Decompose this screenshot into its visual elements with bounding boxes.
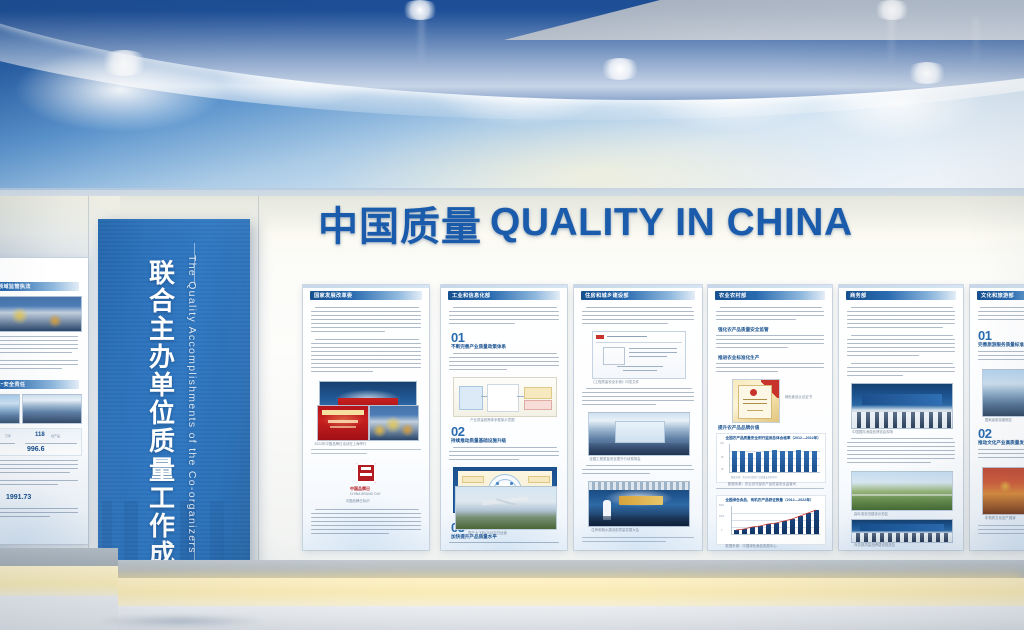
stage-truss	[589, 482, 689, 490]
photo-shade	[456, 487, 556, 529]
poster-header-label: 商务部	[846, 292, 866, 299]
chart-agri-brand-value: 全国绿色食品、有机农产品获证数量（2012—2022年）	[716, 495, 826, 545]
stat-caption-line	[0, 443, 15, 444]
china-brand-day-seal-icon	[356, 463, 376, 483]
event-backdrop	[862, 394, 942, 405]
chart-ytick: 8000	[719, 505, 724, 507]
inspection-workers-photo	[0, 296, 82, 332]
outdoor-forum-stage-photo	[588, 481, 690, 527]
page-title: 中国质量 QUALITY IN CHINA	[318, 192, 878, 254]
banner-headline	[322, 410, 364, 415]
poster-header-label: 国家发展改革委	[310, 292, 352, 299]
poster-top-accent	[970, 285, 1024, 288]
poster-header-label: 工业和信息化部	[448, 292, 490, 299]
chart-plot-area	[731, 506, 820, 535]
poster-header-bar: 深入开展民生领域监管执法	[0, 282, 79, 291]
poster-mofcom[interactable]: 商务部 中国国际消费品博览会现场 高标准农田建设	[839, 285, 963, 550]
photo-shade	[370, 406, 418, 440]
award-ceremony-photo	[851, 519, 953, 543]
farmland-aerial-photo	[851, 471, 953, 511]
section-title: 提升农产品品牌价值	[718, 425, 759, 431]
chart-ytick: 0	[721, 530, 722, 532]
section-number: 02	[978, 427, 991, 440]
certificate-line	[743, 399, 767, 400]
document-figure	[603, 347, 625, 365]
stat-unit: 批产品	[51, 434, 60, 438]
chart-bar	[732, 451, 737, 472]
brand-day-crowd-photo	[369, 405, 419, 441]
document-rule	[596, 342, 682, 343]
poster-header-label: 深入开展民生领域监管执法	[0, 283, 31, 290]
chart-title: 全国农产品质量安全例行监测总体合格率（2012—2022年）	[726, 436, 821, 441]
document-text-line	[617, 366, 663, 367]
diagram-node	[524, 387, 552, 399]
chart-bar	[788, 451, 793, 472]
poster-header-label: 农业农村部	[715, 292, 746, 299]
factory-line-photo	[0, 394, 20, 424]
policy-framework-diagram	[453, 377, 557, 417]
photo-caption: 非物质文化遗产展演	[985, 516, 1016, 521]
section-title: 推动文化产业高质量发展	[978, 440, 1024, 446]
banner-floor-shadow	[96, 615, 266, 627]
stat-caption-line	[25, 443, 77, 444]
chart-bar	[748, 453, 753, 472]
poster-header-bar: 工业和信息化部	[448, 291, 560, 300]
forum-audience	[589, 516, 689, 526]
diagram-node	[487, 384, 519, 412]
certificate-line	[743, 403, 767, 404]
certificate-inner	[738, 385, 772, 419]
photo-caption: 2022年中国品牌日活动在上海举行	[314, 442, 366, 447]
chart-source-note: 数据来源：农业农村部农产品质量安全监管司	[728, 482, 796, 487]
event-backdrop	[860, 524, 944, 531]
wall-seam	[258, 196, 259, 566]
section-title: 完善旅游服务质量标准	[978, 342, 1024, 348]
poster-miit-lower[interactable]: 国产大飞机C919交付运营	[441, 468, 567, 550]
section-title: 持续推动质量基础设施升级	[451, 438, 506, 444]
chart-note: 数据来源：农业农村部农产品质量安全监管司	[731, 475, 777, 479]
chart-ytick: 4000	[719, 516, 724, 518]
chart-ytick: 95	[721, 457, 724, 459]
photo-shade	[0, 297, 81, 331]
photo-caption: 中国品牌日标识	[346, 499, 370, 504]
photo-caption: 商务部质量品牌建设推进会	[854, 543, 895, 548]
section-number: 01	[978, 329, 991, 342]
chart-agri-safety-rate: 全国农产品质量安全例行监测总体合格率（2012—2022年） 100 95 90	[716, 433, 826, 483]
section-title: 强化农产品质量安全监管	[718, 327, 769, 333]
document-title-line	[607, 336, 647, 337]
section-number: 01	[451, 331, 464, 344]
poster-header-label: 住房和城乡建设部	[581, 292, 629, 299]
group-attendees	[852, 533, 952, 542]
green-food-certificate	[732, 379, 780, 423]
diagram-node	[524, 400, 552, 410]
stat-value: 1991.73	[6, 494, 31, 501]
poster-header-label: 文化和旅游部	[977, 292, 1014, 299]
wall-seam	[88, 196, 89, 556]
poster-top-accent	[303, 285, 429, 288]
photo-caption: 中国国际消费品博览会现场	[852, 430, 893, 435]
document-text-line	[629, 348, 677, 349]
national-emblem-icon	[750, 389, 757, 396]
photo-caption: 全国工程质量安全提升行动现场会	[589, 457, 640, 462]
light-beam	[975, 18, 977, 73]
stage-banner	[619, 496, 663, 505]
chart-title: 全国绿色食品、有机农产品获证数量（2012—2022年）	[725, 498, 813, 503]
aircraft-takeoff-photo	[455, 486, 557, 530]
poster-header-label: 落实"三品一标"安全责任	[0, 381, 25, 388]
diagram-connector	[481, 396, 487, 397]
light-beam	[420, 12, 423, 72]
spotlight-icon	[905, 62, 949, 84]
diagram-connector	[517, 396, 524, 397]
document-logo	[596, 335, 604, 339]
chart-bar	[780, 451, 785, 472]
poster-top-accent	[441, 285, 567, 288]
chart-bar	[804, 451, 809, 472]
poster-moa[interactable]: 农业农村部 强化农产品质量安全监管 推进农业标准化生产 绿色食品认证证书 提升农…	[708, 285, 832, 550]
stat-value: 996.6	[27, 446, 45, 453]
light-beam	[890, 12, 893, 70]
chart-trend-line	[732, 506, 820, 534]
photo-shade	[983, 468, 1024, 514]
diagram-node	[459, 386, 483, 410]
banner-subline	[328, 420, 358, 423]
poster-header-bar: 落实"三品一标"安全责任	[0, 380, 79, 389]
group-attendees	[852, 412, 952, 428]
document-text-line	[629, 356, 667, 357]
photo-caption: 产业质量政策体系框架示意图	[470, 418, 514, 423]
photo-shade	[852, 472, 952, 510]
poster-top-accent	[839, 285, 963, 288]
scenic-city-photo	[982, 369, 1024, 417]
cultural-performance-photo	[982, 467, 1024, 515]
chart-bar	[796, 450, 801, 472]
certificate-line	[747, 410, 763, 411]
chart-plot-area	[729, 444, 820, 473]
poster-mohurd[interactable]: 住房和城乡建设部 《工程质量安全手册》印发文件 全国工程质量安全提升行动现场会	[574, 285, 702, 550]
projection-screen	[615, 421, 665, 443]
poster-header-bar: 文化和旅游部	[977, 291, 1024, 300]
page-title-chinese: 中国质量	[318, 194, 482, 252]
seal-label: 中国品牌日	[350, 486, 370, 492]
poster-header-bar: 国家发展改革委	[310, 291, 422, 300]
document-text-line	[623, 370, 657, 371]
section-title: 不断完善产业质量政策体系	[451, 344, 506, 350]
brand-day-red-banner-photo	[317, 405, 369, 441]
banner-subline	[330, 426, 356, 428]
photo-caption: 绿色食品认证证书	[785, 395, 812, 400]
banner-title-chinese: 联合主办单位质量工作成果	[142, 259, 182, 596]
poster-ndrc[interactable]: 国家发展改革委 2022年中国品牌日活动在上海举行 2022	[303, 285, 429, 550]
document-text-line	[629, 352, 677, 353]
spotlight-icon	[98, 50, 150, 76]
trade-conference-group-photo	[851, 383, 953, 429]
stat-value: 118	[35, 432, 45, 438]
photo-caption: 《工程质量安全手册》印发文件	[591, 380, 639, 385]
poster-header-bar: 农业农村部	[715, 291, 825, 300]
chart-bar	[812, 451, 817, 472]
banner-title-english: The Quality Accomplishments of the Co-or…	[186, 255, 198, 554]
regulation-document-screenshot	[592, 331, 686, 379]
chart-source-note: 数据来源：中国绿色食品发展中心	[725, 544, 776, 549]
base-uplight-left	[0, 566, 118, 600]
poster-header-bar: 住房和城乡建设部	[581, 291, 695, 300]
stats-panel: 1.98 万件 118 批产品 8.8 996.6	[0, 428, 82, 456]
chart-ytick: 90	[721, 469, 724, 471]
chart-bar	[764, 451, 769, 472]
chart-bar	[772, 450, 777, 472]
poster-top-accent	[574, 285, 702, 288]
photo-caption: 国产大飞机C919交付运营	[468, 531, 507, 536]
conference-audience	[589, 443, 689, 455]
photo-caption: 国家级旅游度假区	[985, 418, 1012, 423]
chart-ytick: 100	[720, 443, 724, 445]
page-title-english: QUALITY IN CHINA	[490, 201, 853, 245]
chart-bar	[740, 451, 745, 472]
conference-hall-photo	[588, 412, 690, 456]
photo-caption: 高标准农田建设示范区	[854, 512, 888, 517]
section-number: 02	[451, 425, 464, 438]
poster-top-accent	[708, 285, 832, 288]
factory-line-photo	[22, 394, 82, 424]
stat-unit: 万件	[5, 434, 11, 438]
chart-bar	[756, 452, 761, 472]
photo-caption: 住房和城乡建设部质量发展大会	[591, 528, 639, 533]
poster-mct[interactable]: 文化和旅游部 01 完善旅游服务质量标准 国家级旅游度假区 02 推动文化产业高…	[970, 285, 1024, 550]
poster-header-bar: 商务部	[846, 291, 956, 300]
exhibition-hall-photo: 中国质量 QUALITY IN CHINA 深入开展民生领域监管执法 落实"三品…	[0, 0, 1024, 630]
poster-partial-left[interactable]: 深入开展民生领域监管执法 落实"三品一标"安全责任 1.98 万件 118 批产…	[0, 258, 88, 544]
spotlight-icon	[598, 58, 642, 80]
seal-sublabel: CHINA BRAND DAY	[350, 492, 381, 496]
photo-shade	[983, 370, 1024, 416]
section-title: 推进农业标准化生产	[718, 355, 759, 361]
